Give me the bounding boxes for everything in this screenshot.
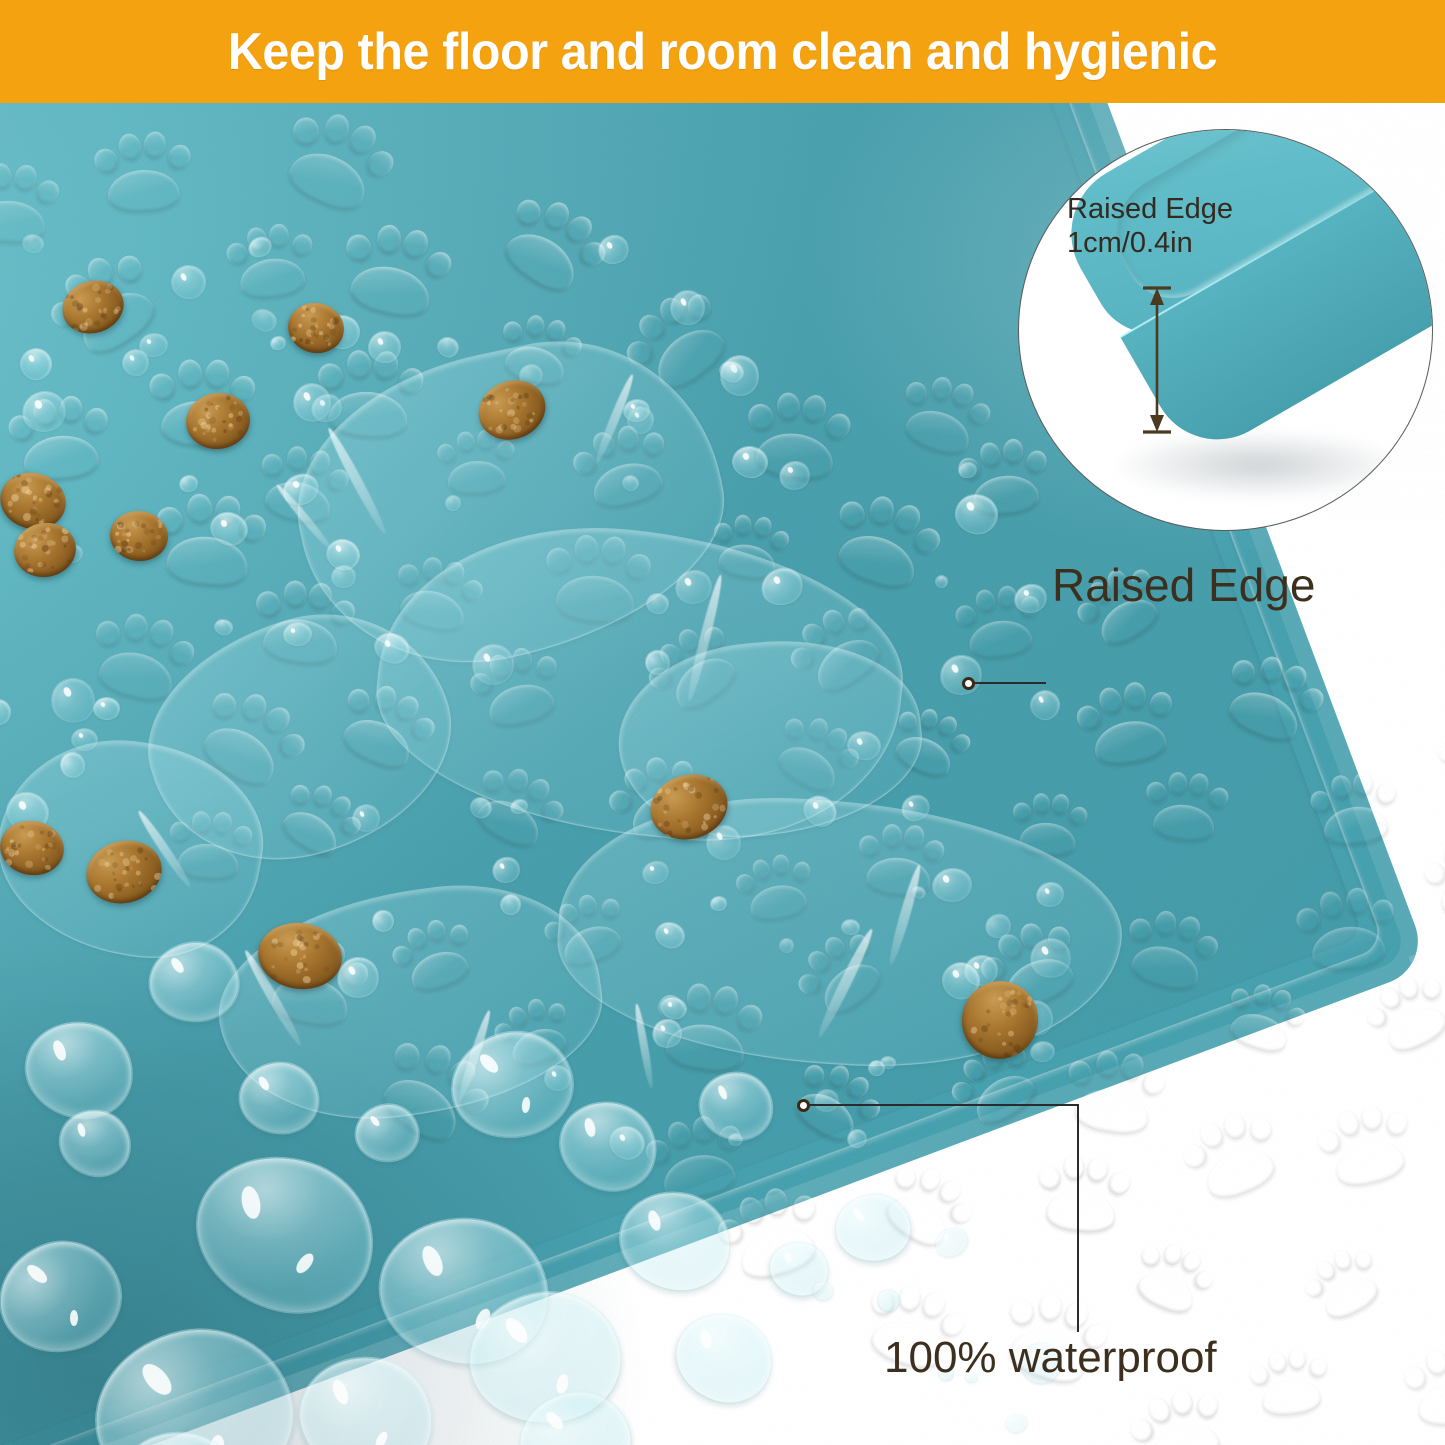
paw-print-icon bbox=[1428, 701, 1445, 805]
water-droplet bbox=[832, 1190, 914, 1266]
paw-print-icon bbox=[1398, 1340, 1445, 1435]
waterproof-anchor-dot bbox=[797, 1099, 810, 1112]
water-droplet bbox=[665, 1302, 783, 1413]
paw-print-icon bbox=[1121, 1230, 1224, 1328]
raised-edge-anchor-dot bbox=[962, 677, 975, 690]
specular-highlight bbox=[943, 1234, 951, 1242]
headline-banner: Keep the floor and room clean and hygien… bbox=[0, 0, 1445, 103]
water-droplet bbox=[877, 1288, 901, 1312]
specular-highlight bbox=[699, 1330, 712, 1350]
specular-highlight bbox=[208, 1434, 225, 1445]
water-droplet bbox=[1003, 1411, 1029, 1434]
specular-highlight bbox=[373, 1430, 389, 1445]
water-droplet bbox=[930, 1223, 972, 1263]
specular-highlight bbox=[783, 1252, 792, 1265]
waterproof-leader-vertical bbox=[1077, 1104, 1079, 1332]
specular-highlight bbox=[555, 1373, 569, 1394]
water-droplet bbox=[765, 1238, 833, 1301]
raised-edge-leader-line bbox=[974, 682, 1046, 684]
raised-edge-detail-inset: Raised Edge 1cm/0.4in bbox=[1018, 129, 1433, 531]
water-droplet bbox=[812, 1281, 834, 1302]
raised-edge-callout-label: Raised Edge bbox=[1052, 558, 1315, 612]
specular-highlight bbox=[543, 1409, 566, 1432]
product-image: Keep the floor and room clean and hygien… bbox=[0, 0, 1445, 1445]
paw-print-icon bbox=[1416, 830, 1445, 928]
water-droplet bbox=[510, 1381, 640, 1445]
paw-print-icon bbox=[1293, 1235, 1395, 1333]
specular-highlight bbox=[330, 1378, 352, 1407]
paw-print-icon bbox=[1120, 1375, 1239, 1445]
paw-print-icon bbox=[1031, 1148, 1134, 1241]
specular-highlight bbox=[502, 1315, 531, 1347]
inset-mat-corner bbox=[1046, 129, 1433, 494]
headline-text: Keep the floor and room clean and hygien… bbox=[51, 0, 1395, 103]
dimension-arrow-icon bbox=[1139, 285, 1175, 435]
waterproof-callout-label: 100% waterproof bbox=[884, 1333, 1217, 1383]
inset-dimension-label: Raised Edge 1cm/0.4in bbox=[1067, 192, 1287, 260]
specular-highlight bbox=[852, 1206, 867, 1222]
waterproof-leader-horizontal bbox=[809, 1104, 1079, 1106]
paw-print-icon bbox=[1309, 1094, 1422, 1200]
paw-print-icon bbox=[1245, 1343, 1335, 1425]
paw-print-icon bbox=[1171, 1098, 1295, 1216]
